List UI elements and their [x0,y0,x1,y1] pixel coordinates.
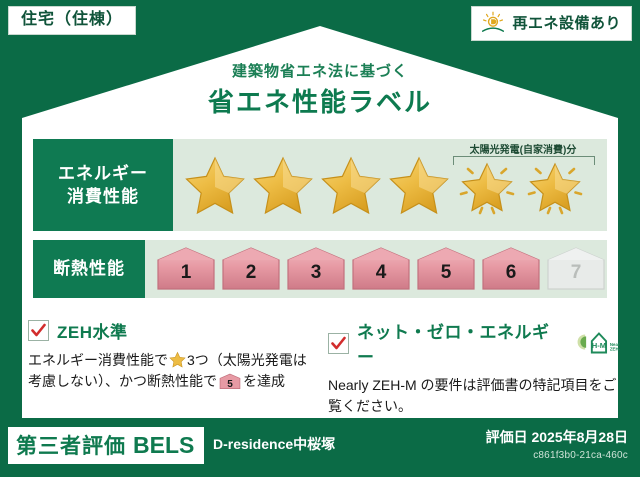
insulation-level-3: 3 [285,246,347,292]
energy-performance-label: 住宅（住棟） 再エネ設備あり 建築物省エネ法に基づく 省エネ性能ラベル エネルギ… [0,0,640,477]
zeh-text-part3: を達成 [243,373,285,389]
bels-en-label: BELS [133,432,194,459]
zeh-standard-title: ZEH水準 [57,318,128,343]
building-name: D-residence中桜塚 [213,434,335,454]
inline-house-icon: 5 [219,373,241,390]
insulation-level-5: 5 [415,246,477,292]
insulation-level-6-value: 6 [480,262,542,284]
check-icon [30,322,47,339]
star-2 [251,153,315,217]
net-zero-energy-header: ネット・ゼロ・エネルギー H-M Nearly ZEH-M [328,318,620,368]
insulation-level-2-value: 2 [220,262,282,284]
insulation-level-scale: 1 2 3 [145,246,607,292]
bels-certification-box: 第三者評価 BELS [8,427,204,464]
zeh-standard-checkbox [28,320,49,341]
insulation-label: 断熱性能 [53,258,125,279]
insulation-level-2: 2 [220,246,282,292]
energy-performance-label-box: エネルギー 消費性能 [33,139,173,231]
net-zero-energy-checkbox [328,333,349,354]
star-1 [183,153,247,217]
net-zero-energy-block: ネット・ゼロ・エネルギー H-M Nearly ZEH-M Nearly ZEH… [328,318,620,417]
svg-text:ZEH-M: ZEH-M [610,347,620,352]
zeh-standard-description: エネルギー消費性能で3つ（太陽光発電は考慮しない）、かつ断熱性能で5を達成 [28,350,316,392]
insulation-level-3-value: 3 [285,262,347,284]
evaluation-date-label: 評価日 [486,429,528,445]
bels-jp-label: 第三者評価 [16,430,126,460]
inline-house-value: 5 [219,377,241,392]
energy-performance-row: エネルギー 消費性能 [33,139,607,231]
evaluation-date: 評価日 2025年8月28日 [486,427,628,447]
zeh-standard-block: ZEH水準 エネルギー消費性能で3つ（太陽光発電は考慮しない）、かつ断熱性能で5… [28,318,316,392]
insulation-level-7: 7 [545,246,607,292]
insulation-level-1: 1 [155,246,217,292]
renewable-energy-badge: 再エネ設備あり [471,6,632,41]
footer-evaluation-info: 評価日 2025年8月28日 c861f3b0-21ca-460c [486,427,628,461]
net-zero-energy-description: Nearly ZEH-M の要件は評価書の特記項目をご覧ください。 [328,375,620,417]
solar-contribution-note: 太陽光発電(自家消費)分 [447,141,599,156]
star-4 [387,153,451,217]
zeh-m-logo: H-M Nearly ZEH-M [569,329,620,357]
star-icon [169,351,186,368]
renewable-badge-label: 再エネ設備あり [512,16,621,31]
insulation-label-box: 断熱性能 [33,240,145,298]
net-zero-energy-title: ネット・ゼロ・エネルギー [357,318,557,368]
check-icon [330,335,347,352]
insulation-level-7-value: 7 [545,262,607,284]
insulation-level-6: 6 [480,246,542,292]
insulation-level-4-value: 4 [350,262,412,284]
category-tag: 住宅（住棟） [8,6,136,35]
insulation-level-1-value: 1 [155,262,217,284]
insulation-performance-row: 断熱性能 1 2 [33,240,607,298]
solar-contribution-bracket [453,156,595,165]
zeh-standard-header: ZEH水準 [28,318,316,343]
energy-label-line2: 消費性能 [67,186,139,207]
insulation-level-4: 4 [350,246,412,292]
label-main-title: 省エネ性能ラベル [0,82,640,119]
label-sub-title: 建築物省エネ法に基づく [0,60,640,81]
sun-icon [480,11,506,35]
energy-performance-value-box: 太陽光発電(自家消費)分 [173,139,607,231]
zeh-text-part1: エネルギー消費性能で [28,352,168,368]
evaluation-date-value: 2025年8月28日 [531,429,628,445]
energy-label-line1: エネルギー [58,163,148,184]
star-3 [319,153,383,217]
evaluation-id: c861f3b0-21ca-460c [486,450,628,461]
svg-text:H-M: H-M [591,341,605,350]
insulation-level-5-value: 5 [415,262,477,284]
insulation-value-box: 1 2 3 [145,240,607,298]
